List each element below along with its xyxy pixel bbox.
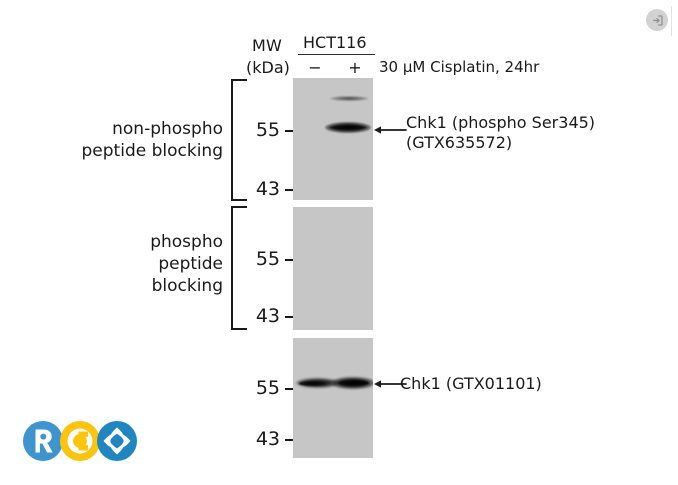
mw-marker-43-panel-1: 43 xyxy=(250,178,280,200)
logo-letter-r xyxy=(23,421,63,461)
left-arrow-icon-phospho-chk1 xyxy=(373,124,407,136)
western-blot-figure: MW (kDa) HCT116 − + 30 μM Cisplatin, 24h… xyxy=(0,0,678,485)
blot-panel-non-phospho-blocking xyxy=(293,78,373,200)
mw-header-line1: MW xyxy=(252,36,282,55)
treatment-label: 30 μM Cisplatin, 24hr xyxy=(379,58,539,76)
group-label-phospho-peptide-blocking: phospho peptide blocking xyxy=(50,231,223,297)
band-chk1-lane-plus-core xyxy=(337,380,369,386)
bracket-phospho-blocking xyxy=(231,206,247,330)
mw-marker-55-panel-2: 55 xyxy=(250,248,280,270)
annotation-label-phospho-chk1: Chk1 (phospho Ser345) (GTX635572) xyxy=(406,113,656,153)
lane-label-minus: − xyxy=(306,58,324,77)
blot-panel-phospho-blocking xyxy=(293,207,373,330)
mw-marker-43-panel-2: 43 xyxy=(250,305,280,327)
login-arrow-icon[interactable] xyxy=(646,9,668,31)
band-phospho-chk1-lane-plus-core xyxy=(329,125,367,130)
lane-label-plus: + xyxy=(346,58,364,77)
cell-line-underline xyxy=(298,54,375,55)
mw-marker-55-panel-3: 55 xyxy=(250,377,280,399)
logo-letter-o xyxy=(97,421,137,461)
band-faint-upper-lane-plus xyxy=(330,96,368,101)
group-label-non-phospho-peptide-blocking: non-phospho peptide blocking xyxy=(30,118,223,162)
band-phospho-chk1-lane-plus xyxy=(325,122,371,133)
mw-marker-55-panel-1: 55 xyxy=(250,119,280,141)
band-chk1-lane-minus xyxy=(296,378,338,388)
band-chk1-lane-plus xyxy=(331,377,373,389)
cell-line-label: HCT116 xyxy=(303,33,367,52)
mw-header-line2: (kDa) xyxy=(246,58,290,77)
band-chk1-lane-minus-core xyxy=(299,381,327,386)
bracket-non-phospho-blocking xyxy=(231,79,247,201)
annotation-label-total-chk1: Chk1 (GTX01101) xyxy=(400,374,650,394)
mw-marker-43-panel-3: 43 xyxy=(250,428,280,450)
blot-panel-total-chk1 xyxy=(293,338,373,458)
rco-logo xyxy=(22,419,138,463)
corner-divider xyxy=(671,6,672,36)
logo-letter-c xyxy=(60,421,100,461)
